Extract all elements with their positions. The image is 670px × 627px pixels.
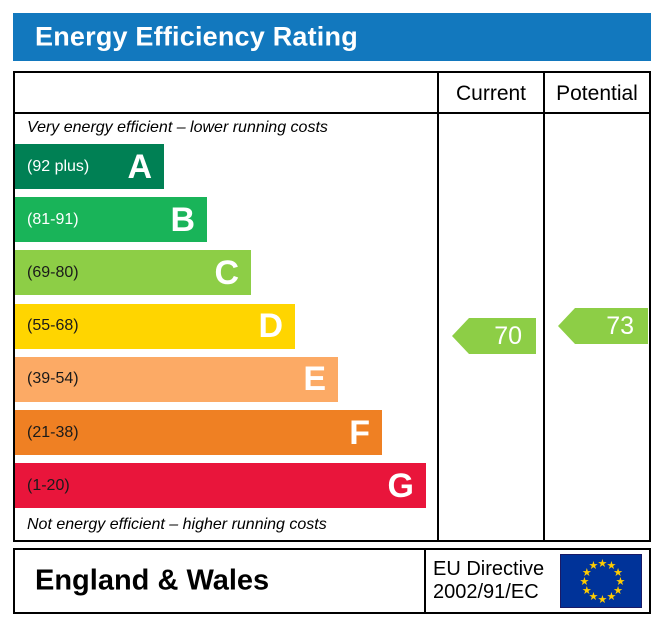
chart-title-banner: Energy Efficiency Rating	[13, 13, 651, 61]
band-letter-g: G	[388, 469, 414, 503]
body-divider-2	[543, 114, 545, 540]
eu-flag-star: ★	[598, 596, 607, 605]
rating-arrow-current: 70	[452, 318, 536, 354]
rating-band-a: (92 plus)A	[15, 144, 164, 189]
eu-directive-line2: 2002/91/EC	[433, 581, 539, 603]
band-letter-e: E	[303, 362, 326, 396]
band-range-a: (92 plus)	[27, 158, 89, 176]
footer-divider	[424, 550, 426, 612]
caption-very-efficient: Very energy efficient – lower running co…	[27, 119, 328, 137]
eu-directive-label: EU Directive 2002/91/EC	[433, 558, 544, 604]
chart-title: Energy Efficiency Rating	[35, 22, 358, 53]
band-range-f: (21-38)	[27, 424, 79, 442]
band-letter-c: C	[214, 256, 239, 290]
rating-bands: (92 plus)A(81-91)B(69-80)C(55-68)D(39-54…	[15, 144, 437, 514]
body-divider-1	[437, 114, 439, 540]
eu-flag-icon: ★★★★★★★★★★★★	[560, 554, 642, 608]
band-letter-d: D	[258, 309, 283, 343]
column-header-potential: Potential	[545, 73, 649, 114]
eu-flag-star: ★	[589, 562, 598, 571]
band-range-d: (55-68)	[27, 317, 79, 335]
rating-band-g: (1-20)G	[15, 463, 426, 508]
eu-directive-line1: EU Directive	[433, 558, 544, 580]
eu-flag-star: ★	[607, 593, 616, 602]
rating-band-c: (69-80)C	[15, 250, 251, 295]
band-range-e: (39-54)	[27, 370, 79, 388]
column-header-current: Current	[439, 73, 543, 114]
rating-band-e: (39-54)E	[15, 357, 338, 402]
band-range-b: (81-91)	[27, 211, 79, 229]
rating-band-d: (55-68)D	[15, 304, 295, 349]
footer-row: England & Wales EU Directive 2002/91/EC …	[13, 548, 651, 614]
rating-arrow-potential: 73	[558, 308, 648, 344]
band-letter-b: B	[170, 203, 195, 237]
eu-flag-star: ★	[580, 578, 589, 587]
band-range-c: (69-80)	[27, 264, 79, 282]
table-body: Very energy efficient – lower running co…	[15, 114, 649, 540]
eu-flag-star: ★	[582, 587, 591, 596]
rating-band-f: (21-38)F	[15, 410, 382, 455]
table-header-row: Current Potential	[15, 73, 649, 114]
eu-flag-star: ★	[598, 560, 607, 569]
caption-not-efficient: Not energy efficient – higher running co…	[27, 516, 327, 534]
band-range-g: (1-20)	[27, 477, 70, 495]
region-label: England & Wales	[35, 565, 269, 598]
rating-band-b: (81-91)B	[15, 197, 207, 242]
rating-table: Current Potential Very energy efficient …	[13, 71, 651, 542]
band-letter-f: F	[349, 416, 370, 450]
band-letter-a: A	[127, 150, 152, 184]
epc-certificate: Energy Efficiency Rating Current Potenti…	[0, 0, 670, 627]
